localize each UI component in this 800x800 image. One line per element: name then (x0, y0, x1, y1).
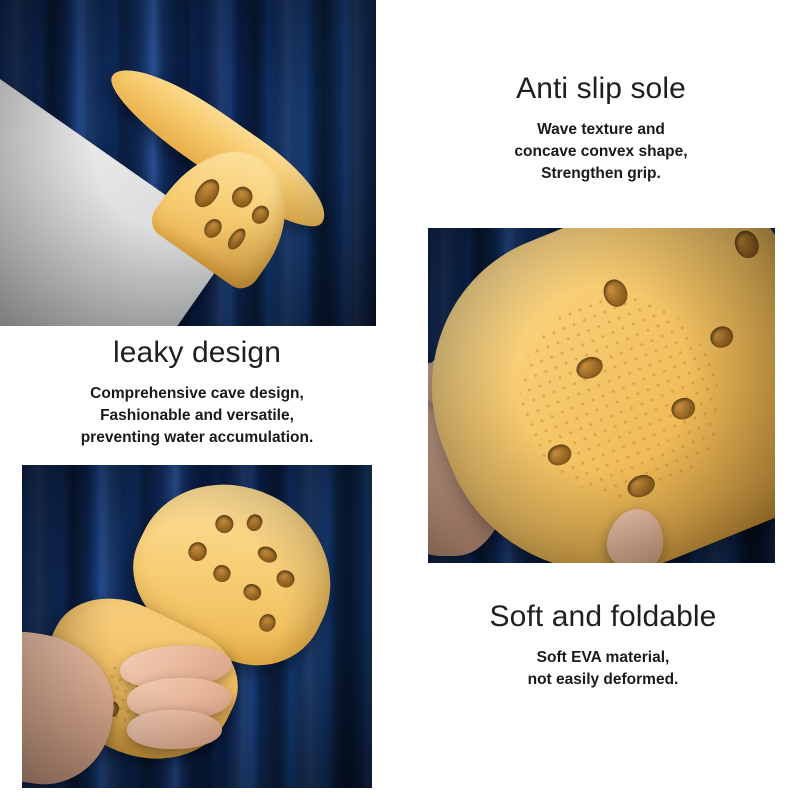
feature-description: Soft EVA material, not easily deformed. (438, 647, 768, 692)
drain-hole (185, 539, 209, 563)
drain-hole (256, 543, 280, 565)
drain-hole (244, 512, 266, 534)
infographic-page: Anti slip sole Wave texture and concave … (0, 0, 800, 800)
photo-hand-holding-sole (428, 228, 775, 563)
photo-hand-folding-slipper (22, 465, 372, 788)
feature-description-line: concave convex shape, (440, 141, 762, 163)
drain-hole (212, 511, 236, 535)
drain-hole (707, 323, 736, 351)
drain-hole (773, 301, 775, 334)
feature-text-anti-slip-sole: Anti slip sole Wave texture and concave … (440, 72, 762, 186)
slipper-sole-closeup (428, 228, 775, 563)
feature-description-line: Wave texture and (440, 119, 762, 141)
feature-headline: Soft and foldable (438, 600, 768, 635)
drain-hole (274, 567, 297, 590)
feature-headline: leaky design (18, 336, 376, 371)
drain-hole (200, 216, 225, 242)
feature-description-line: Soft EVA material, (438, 647, 768, 669)
feature-text-soft-and-foldable: Soft and foldable Soft EVA material, not… (438, 600, 768, 691)
feature-description: Wave texture and concave convex shape, S… (440, 119, 762, 186)
drain-hole (224, 225, 249, 252)
feature-description-line: Strengthen grip. (440, 163, 762, 185)
feature-description-line: Comprehensive cave design, (18, 383, 376, 405)
photo-hero-slipper-on-ledge (0, 0, 376, 326)
drain-hole (210, 562, 233, 585)
feature-description: Comprehensive cave design, Fashionable a… (18, 383, 376, 450)
drain-hole (690, 228, 721, 229)
drain-hole (190, 175, 225, 213)
feature-description-line: preventing water accumulation. (18, 427, 376, 449)
drain-hole (249, 202, 273, 227)
finger (127, 710, 222, 749)
drain-hole (241, 581, 264, 604)
drain-hole (731, 228, 763, 261)
drain-hole (256, 611, 278, 634)
feature-description-line: Fashionable and versatile, (18, 405, 376, 427)
feature-headline: Anti slip sole (440, 72, 762, 107)
drain-hole (228, 183, 256, 212)
feature-description-line: not easily deformed. (438, 669, 768, 691)
feature-text-leaky-design: leaky design Comprehensive cave design, … (18, 336, 376, 450)
